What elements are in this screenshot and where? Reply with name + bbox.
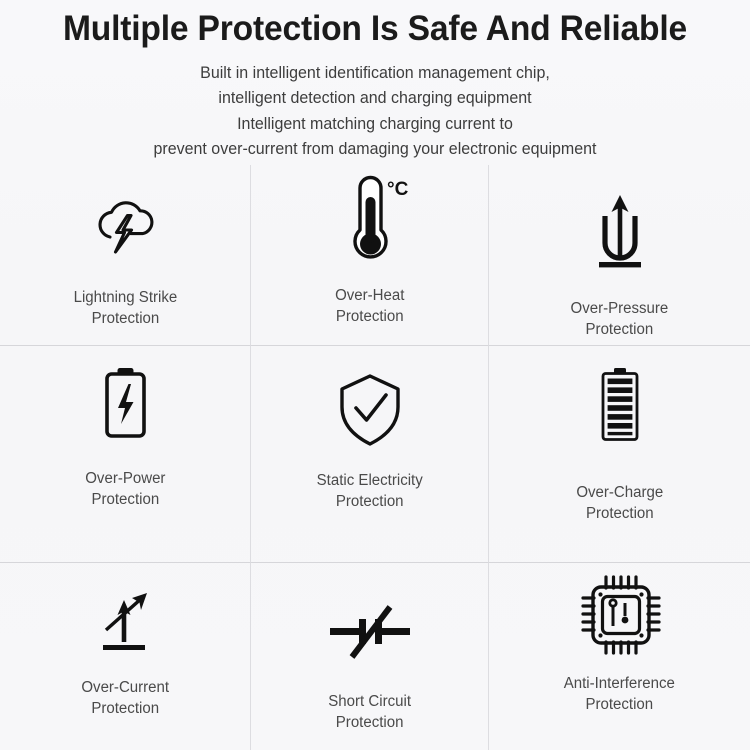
caption-line-2: Protection: [328, 712, 411, 733]
caption-line-2: Protection: [571, 319, 669, 340]
feature-caption: Over-Heat Protection: [335, 285, 404, 327]
caption-line-1: Over-Power: [85, 470, 165, 487]
infographic-page: Multiple Protection Is Safe And Reliable…: [0, 0, 750, 750]
feature-caption: Anti-Interference Protection: [564, 673, 675, 715]
subtitle-line-1: Built in intelligent identification mana…: [11, 61, 739, 86]
caption-line-1: Over-Charge: [576, 484, 663, 501]
svg-text:°C: °C: [387, 179, 409, 200]
feature-cell-anti-interference: Anti-Interference Protection: [488, 563, 750, 750]
caption-line-2: Protection: [576, 503, 663, 524]
feature-cell-over-pressure: Over-Pressure Protection: [488, 165, 750, 346]
feature-cell-lightning-strike: Lightning Strike Protection: [0, 165, 250, 346]
caption-line-1: Short Circuit: [328, 693, 411, 710]
rising-arrow-bar-icon: [87, 585, 163, 661]
caption-line-2: Protection: [81, 698, 169, 719]
feature-caption: Over-Charge Protection: [576, 482, 663, 524]
feature-caption: Lightning Strike Protection: [73, 287, 177, 329]
subtitle-line-3: Intelligent matching charging current to: [11, 112, 739, 137]
subtitle-line-2: intelligent detection and charging equip…: [11, 86, 739, 111]
subtitle-block: Built in intelligent identification mana…: [11, 51, 739, 163]
shield-check-icon: [330, 370, 410, 450]
caption-line-2: Protection: [85, 489, 165, 510]
feature-cell-short-circuit: Short Circuit Protection: [250, 563, 488, 750]
caption-line-1: Over-Heat: [335, 287, 404, 304]
feature-caption: Over-Pressure Protection: [571, 298, 669, 340]
feature-cell-over-heat: °C Over-Heat Protection: [250, 165, 488, 346]
short-circuit-slash-icon: [322, 601, 418, 667]
up-arrow-u-bar-icon: [583, 190, 657, 276]
feature-grid: Lightning Strike Protection °C Over-Heat…: [0, 165, 750, 750]
caption-line-1: Static Electricity: [316, 472, 422, 489]
feature-caption: Over-Power Protection: [85, 468, 165, 510]
feature-caption: Static Electricity Protection: [316, 470, 422, 512]
feature-caption: Over-Current Protection: [81, 677, 169, 719]
feature-cell-static-electricity: Static Electricity Protection: [250, 346, 488, 563]
header: Multiple Protection Is Safe And Reliable…: [0, 0, 750, 162]
thermometer-celsius-icon: °C: [327, 173, 413, 269]
subtitle-line-4: prevent over-current from damaging your …: [11, 137, 739, 162]
caption-line-2: Protection: [335, 306, 404, 327]
caption-line-2: Protection: [564, 694, 675, 715]
page-title: Multiple Protection Is Safe And Reliable: [15, 0, 735, 51]
caption-line-1: Lightning Strike: [73, 289, 177, 306]
battery-full-bars-icon: [593, 366, 647, 452]
microchip-icon: [579, 573, 661, 655]
feature-cell-over-power: Over-Power Protection: [0, 346, 250, 563]
feature-caption: Short Circuit Protection: [328, 691, 411, 733]
caption-line-1: Over-Pressure: [571, 300, 669, 317]
caption-line-2: Protection: [316, 491, 422, 512]
battery-bolt-icon: [94, 364, 156, 450]
cloud-lightning-icon: [86, 193, 164, 271]
caption-line-2: Protection: [73, 308, 177, 329]
caption-line-1: Over-Current: [81, 679, 169, 696]
feature-cell-over-current: Over-Current Protection: [0, 563, 250, 750]
caption-line-1: Anti-Interference: [564, 675, 675, 692]
feature-cell-over-charge: Over-Charge Protection: [488, 346, 750, 563]
